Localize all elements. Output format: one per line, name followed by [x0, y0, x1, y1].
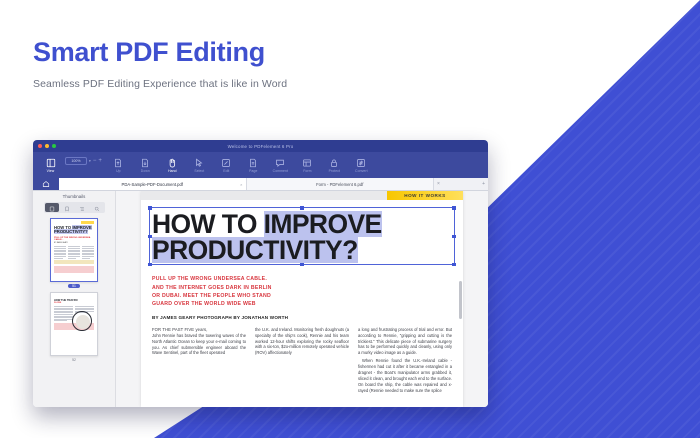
thumbnail-headline-line2: PRODUCTIVITY?	[54, 229, 88, 234]
toolbar-item-convert[interactable]: Convert	[348, 156, 375, 174]
article-column-3: a long and frustrating process of trial …	[358, 327, 452, 394]
article-byline: BY JAMES GEARY PHOTOGRAPH BY JONATHAN WO…	[152, 315, 452, 320]
column-1-leadin-bold: FOR THE PAST FIVE	[152, 327, 194, 332]
toolbar-label-up: Up	[116, 169, 121, 173]
page-title: Smart PDF Editing	[33, 38, 287, 68]
thumbnail-highlight-bar	[54, 260, 94, 264]
lock-icon	[329, 157, 339, 168]
toolbar-item-protect[interactable]: Protect	[321, 156, 348, 174]
toolbar-item-down[interactable]: Down	[132, 156, 159, 174]
new-tab-icon[interactable]: +	[482, 181, 485, 187]
sidebar-tool-search[interactable]	[90, 203, 104, 212]
thumbnail-headline-1: HOW TO IMPROVE PRODUCTIVITY?	[54, 226, 94, 235]
article-deck: PULL UP THE WRONG UNDERSEA CABLE. AND TH…	[152, 275, 328, 307]
toolbar-item-select[interactable]: Select	[186, 156, 213, 174]
thumbnail-byline: BY JAMES GEARY	[54, 243, 94, 244]
edit-pencil-icon	[221, 157, 231, 168]
column-3-body-2: When Rennie found the U.K.-Ireland cable…	[358, 358, 452, 394]
toolbar-item-edit[interactable]: Edit	[213, 156, 240, 174]
document-tab-1[interactable]: PDA-Sample-PDF-Document.pdf ×	[59, 178, 247, 190]
thumbnail-columns	[54, 246, 94, 258]
close-all-tabs-icon[interactable]: ×	[437, 181, 440, 187]
chevron-down-icon[interactable]: ▾	[89, 159, 91, 163]
form-icon	[302, 157, 312, 168]
document-tab-2-label: Form - PDFelement 6.pdf	[316, 182, 363, 187]
headline-selected-text-2: PRODUCTIVITY?	[152, 237, 358, 263]
toolbar-label-convert: Convert	[355, 169, 368, 173]
article-column-2: the U.K. and Ireland. Monitoring fresh d…	[255, 327, 349, 394]
toolbar-label-down: Down	[141, 169, 150, 173]
editable-headline-block[interactable]: HOW TO IMPROVE PRODUCTIVITY?	[152, 211, 452, 263]
page-up-icon	[113, 157, 123, 168]
thumbnail-2-deck: FLOWS	[54, 302, 94, 304]
column-1-leadin-rest: years,	[194, 327, 207, 332]
thumbnail-footer-block	[54, 266, 94, 273]
toolbar-item-up[interactable]: Up	[105, 156, 132, 174]
pdfelement-app-window: Welcome to PDFelement 6 Pro View 100% ▾ …	[33, 140, 488, 407]
toolbar-label-edit: Edit	[223, 169, 229, 173]
main-toolbar: View 100% ▾ − + Up Down Hand	[33, 152, 488, 178]
cursor-select-icon	[194, 157, 204, 168]
zoom-out-button[interactable]: −	[93, 158, 97, 164]
resize-handle-top-right[interactable]	[452, 206, 455, 209]
toolbar-label-form: Form	[303, 169, 311, 173]
pdf-page[interactable]: HOW IT WORKS HOW TO IMPROVE	[141, 191, 463, 407]
column-1-body: John Rennie has braved the towering wave…	[152, 333, 246, 357]
toolbar-label-protect: Protect	[329, 169, 340, 173]
column-2-body: the U.K. and Ireland. Monitoring fresh d…	[255, 327, 349, 357]
window-body: Thumbnails	[33, 191, 488, 407]
thumbnails-sidebar: Thumbnails	[33, 191, 116, 407]
comment-icon	[275, 157, 285, 168]
hand-icon	[167, 157, 177, 168]
toolbar-item-form[interactable]: Form	[294, 156, 321, 174]
headline-selected-text-1: IMPROVE	[264, 211, 382, 237]
article-columns: FOR THE PAST FIVE years, John Rennie has…	[152, 327, 452, 394]
hero-text-block: Smart PDF Editing Seamless PDF Editing E…	[33, 38, 287, 90]
headline-line-2: PRODUCTIVITY?	[152, 237, 452, 263]
document-tab-2[interactable]: Form - PDFelement 6.pdf	[247, 178, 435, 190]
toolbar-item-view[interactable]: View	[37, 156, 64, 174]
thumbnails-icon	[49, 199, 55, 217]
window-title-bar: Welcome to PDFelement 6 Pro	[33, 140, 488, 152]
thumbnail-item-1[interactable]: HOW TO IMPROVE PRODUCTIVITY? PULL UP THE…	[50, 218, 98, 288]
toolbar-label-comment: Comment	[273, 169, 288, 173]
column-3-body: a long and frustrating process of trial …	[358, 327, 452, 357]
thumbnail-page-number-2: 52	[68, 358, 80, 362]
tab-bar-controls: × +	[434, 178, 488, 190]
thumbnail-page-2[interactable]: HOW THE TRAFFIC FLOWS	[50, 292, 98, 356]
toolbar-label-select: Select	[194, 169, 204, 173]
toolbar-item-comment[interactable]: Comment	[267, 156, 294, 174]
close-icon[interactable]: ×	[240, 182, 242, 187]
zoom-in-button[interactable]: +	[98, 158, 102, 164]
page-down-icon	[140, 157, 150, 168]
sidebar-tool-group	[44, 202, 105, 213]
bookmarks-icon	[64, 199, 70, 217]
document-tab-1-label: PDA-Sample-PDF-Document.pdf	[122, 182, 183, 187]
convert-icon	[356, 157, 366, 168]
how-it-works-banner: HOW IT WORKS	[387, 191, 463, 200]
page-icon	[248, 157, 258, 168]
thumbnail-banner	[81, 221, 94, 224]
thumbnail-diagram-icon	[72, 311, 92, 331]
thumbnail-page-1[interactable]: HOW TO IMPROVE PRODUCTIVITY? PULL UP THE…	[50, 218, 98, 282]
outline-icon	[79, 199, 85, 217]
resize-handle-middle-right[interactable]	[452, 235, 455, 238]
window-title: Welcome to PDFelement 6 Pro	[33, 144, 488, 149]
sidebar-tool-bookmarks[interactable]	[60, 203, 74, 212]
resize-handle-bottom-right[interactable]	[452, 263, 455, 266]
document-tab-bar: PDA-Sample-PDF-Document.pdf × Form - PDF…	[33, 178, 488, 191]
toolbar-label-view: View	[47, 169, 55, 173]
zoom-control-group[interactable]: 100% ▾ − +	[65, 157, 102, 165]
thumbnail-deck: PULL UP THE WRONG UNDERSEA CABLE...	[54, 237, 94, 242]
headline-plain-text: HOW TO	[152, 211, 264, 237]
toolbar-label-hand: Hand	[168, 169, 177, 173]
sidebar-tool-thumbnails[interactable]	[45, 203, 59, 212]
view-panel-icon	[46, 157, 56, 168]
search-icon	[94, 199, 100, 217]
page-subtitle: Seamless PDF Editing Experience that is …	[33, 78, 287, 90]
article-column-1: FOR THE PAST FIVE years, John Rennie has…	[152, 327, 246, 394]
thumbnail-item-2[interactable]: HOW THE TRAFFIC FLOWS 52	[50, 292, 98, 362]
toolbar-label-page: Page	[249, 169, 257, 173]
sidebar-tool-outline[interactable]	[75, 203, 89, 212]
scrollbar-thumb[interactable]	[459, 281, 462, 319]
zoom-level-value: 100%	[71, 159, 80, 163]
headline-line-1: HOW TO IMPROVE	[152, 211, 452, 237]
toolbar-item-page[interactable]: Page	[240, 156, 267, 174]
toolbar-item-hand[interactable]: Hand	[159, 156, 186, 174]
home-tab-button[interactable]	[33, 178, 59, 190]
zoom-input[interactable]: 100%	[65, 157, 87, 165]
thumbnail-page-number-1: 51	[68, 284, 80, 288]
document-viewer[interactable]: HOW IT WORKS HOW TO IMPROVE	[116, 191, 488, 407]
vertical-scrollbar[interactable]	[459, 203, 462, 407]
